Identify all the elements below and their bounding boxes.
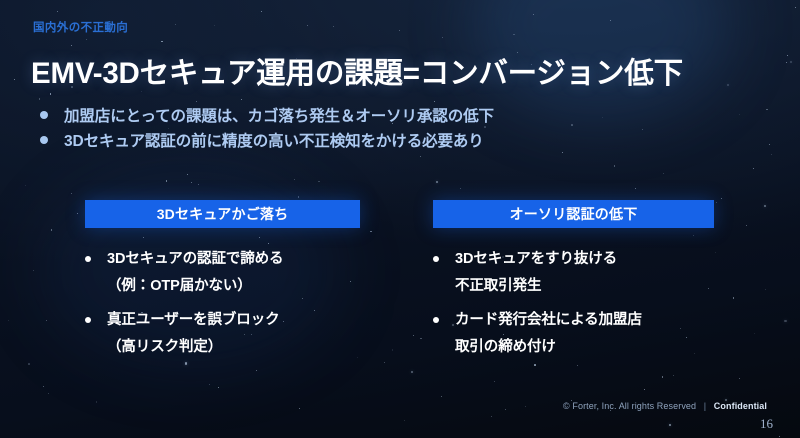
star-dot-icon bbox=[491, 416, 492, 417]
star-dot-icon bbox=[71, 45, 72, 46]
star-dot-icon bbox=[769, 144, 770, 145]
star-dot-icon bbox=[669, 424, 671, 426]
slide-canvas: 国内外の不正動向 EMV-3Dセキュア運用の課題=コンバージョン低下 加盟店にと… bbox=[0, 0, 800, 438]
star-dot-icon bbox=[214, 25, 215, 26]
star-dot-icon bbox=[46, 320, 47, 321]
star-dot-icon bbox=[404, 420, 405, 421]
star-dot-icon bbox=[187, 174, 188, 175]
star-dot-icon bbox=[77, 213, 79, 215]
star-dot-icon bbox=[771, 154, 772, 155]
star-dot-icon bbox=[614, 165, 616, 167]
star-dot-icon bbox=[241, 99, 242, 100]
column-item-list: 3Dセキュアの認証で諦める （例：OTP届かない） 真正ユーザーを誤ブロック （… bbox=[85, 249, 360, 357]
list-item: カード発行会社による加盟店 取引の締め付け bbox=[433, 310, 714, 357]
star-dot-icon bbox=[8, 320, 9, 321]
footer-separator: | bbox=[704, 401, 706, 411]
star-dot-icon bbox=[399, 30, 400, 31]
star-dot-icon bbox=[196, 101, 197, 102]
star-dot-icon bbox=[318, 181, 320, 183]
list-item-text: 3Dセキュアの認証で諦める bbox=[107, 249, 283, 269]
star-dot-icon bbox=[787, 55, 788, 56]
star-dot-icon bbox=[191, 182, 192, 183]
star-dot-icon bbox=[420, 338, 422, 340]
star-dot-icon bbox=[436, 181, 438, 183]
bullet-dot-icon bbox=[85, 317, 91, 323]
star-dot-icon bbox=[307, 25, 308, 26]
star-dot-icon bbox=[39, 98, 41, 100]
star-dot-icon bbox=[96, 401, 98, 403]
list-item-main-row: 3Dセキュアをすり抜ける bbox=[433, 249, 714, 269]
star-dot-icon bbox=[218, 387, 219, 388]
star-dot-icon bbox=[754, 333, 755, 334]
list-item-main-row: 3Dセキュアの認証で諦める bbox=[85, 249, 360, 269]
star-dot-icon bbox=[50, 93, 52, 95]
footer-copyright: © Forter, Inc. All rights Reserved | Con… bbox=[563, 401, 767, 411]
star-dot-icon bbox=[434, 101, 435, 102]
column-header-label: オーソリ認証の低下 bbox=[510, 204, 638, 224]
star-dot-icon bbox=[413, 335, 414, 336]
list-item-text: 3Dセキュアをすり抜ける bbox=[455, 249, 617, 269]
star-dot-icon bbox=[33, 270, 34, 271]
star-dot-icon bbox=[460, 188, 461, 189]
bullet-dot-icon bbox=[40, 136, 48, 144]
star-dot-icon bbox=[370, 231, 372, 233]
star-dot-icon bbox=[727, 84, 729, 86]
list-item-text: カード発行会社による加盟店 bbox=[455, 310, 642, 330]
star-dot-icon bbox=[299, 408, 300, 409]
star-dot-icon bbox=[209, 384, 210, 385]
star-dot-icon bbox=[795, 7, 796, 8]
slide-eyebrow-label: 国内外の不正動向 bbox=[33, 19, 128, 35]
star-dot-icon bbox=[635, 188, 636, 189]
slide-title: EMV-3Dセキュア運用の課題=コンバージョン低下 bbox=[31, 50, 683, 92]
star-dot-icon bbox=[57, 11, 58, 12]
star-dot-icon bbox=[721, 198, 722, 199]
star-dot-icon bbox=[161, 41, 163, 43]
star-dot-icon bbox=[733, 297, 735, 299]
star-dot-icon bbox=[43, 386, 44, 387]
star-dot-icon bbox=[533, 14, 534, 15]
footer-confidential-label: Confidential bbox=[714, 401, 767, 411]
star-dot-icon bbox=[14, 79, 15, 80]
list-item: 3Dセキュアの認証で諦める （例：OTP届かない） bbox=[85, 249, 360, 296]
star-dot-icon bbox=[28, 363, 30, 365]
bullet-dot-icon bbox=[433, 256, 439, 262]
star-dot-icon bbox=[610, 20, 611, 21]
star-dot-icon bbox=[716, 202, 717, 203]
bullet-dot-icon bbox=[85, 256, 91, 262]
lead-bullet-list: 加盟店にとっての課題は、カゴ落ち発生＆オーソリ承認の低下 3Dセキュア認証の前に… bbox=[40, 104, 740, 154]
star-dot-icon bbox=[505, 409, 506, 410]
star-dot-icon bbox=[739, 378, 740, 379]
lead-bullet-item: 加盟店にとっての課題は、カゴ落ち発生＆オーソリ承認の低下 bbox=[40, 104, 740, 126]
star-dot-icon bbox=[746, 225, 747, 226]
bullet-dot-icon bbox=[40, 111, 48, 119]
star-dot-icon bbox=[392, 349, 394, 351]
star-dot-icon bbox=[51, 229, 53, 231]
star-dot-icon bbox=[786, 62, 787, 63]
star-dot-icon bbox=[784, 320, 786, 322]
star-dot-icon bbox=[753, 168, 754, 169]
star-dot-icon bbox=[298, 196, 300, 198]
column-cart-abandonment: 3Dセキュアかご落ち 3Dセキュアの認証で諦める （例：OTP届かない） 真正ユ… bbox=[85, 200, 360, 371]
star-dot-icon bbox=[525, 406, 526, 407]
star-dot-icon bbox=[71, 193, 72, 194]
star-dot-icon bbox=[25, 185, 26, 186]
star-dot-icon bbox=[333, 26, 334, 27]
list-item: 真正ユーザーを誤ブロック （高リスク判定） bbox=[85, 310, 360, 357]
star-dot-icon bbox=[411, 371, 413, 373]
star-dot-icon bbox=[766, 109, 768, 111]
star-dot-icon bbox=[779, 436, 780, 437]
column-authorization-decline: オーソリ認証の低下 3Dセキュアをすり抜ける 不正取引発生 カード発行会社による… bbox=[433, 200, 714, 371]
list-item-text: 真正ユーザーを誤ブロック bbox=[107, 310, 280, 330]
column-header-label: 3Dセキュアかご落ち bbox=[157, 204, 289, 224]
star-dot-icon bbox=[442, 37, 443, 38]
column-item-list: 3Dセキュアをすり抜ける 不正取引発生 カード発行会社による加盟店 取引の締め付… bbox=[433, 249, 714, 357]
star-dot-icon bbox=[715, 252, 716, 253]
list-item-main-row: 真正ユーザーを誤ブロック bbox=[85, 310, 360, 330]
lead-bullet-text: 加盟店にとっての課題は、カゴ落ち発生＆オーソリ承認の低下 bbox=[64, 104, 494, 126]
star-dot-icon bbox=[494, 381, 495, 382]
star-dot-icon bbox=[673, 375, 674, 376]
column-header-box: 3Dセキュアかご落ち bbox=[85, 200, 360, 228]
list-item-subtext: （高リスク判定） bbox=[107, 337, 360, 357]
star-dot-icon bbox=[48, 393, 49, 394]
star-dot-icon bbox=[790, 61, 792, 63]
page-number: 16 bbox=[760, 416, 773, 432]
star-dot-icon bbox=[175, 24, 176, 25]
list-item-subtext: 取引の締め付け bbox=[455, 337, 714, 357]
lead-bullet-item: 3Dセキュア認証の前に精度の高い不正検知をかける必要あり bbox=[40, 129, 740, 151]
star-dot-icon bbox=[663, 173, 664, 174]
list-item-subtext: （例：OTP届かない） bbox=[107, 276, 360, 296]
star-dot-icon bbox=[261, 11, 262, 12]
column-header-box: オーソリ認証の低下 bbox=[433, 200, 714, 228]
star-dot-icon bbox=[441, 396, 442, 397]
star-dot-icon bbox=[662, 376, 664, 378]
list-item-main-row: カード発行会社による加盟店 bbox=[433, 310, 714, 330]
star-dot-icon bbox=[86, 39, 87, 40]
star-dot-icon bbox=[513, 34, 515, 36]
star-dot-icon bbox=[166, 180, 168, 182]
list-item: 3Dセキュアをすり抜ける 不正取引発生 bbox=[433, 249, 714, 296]
bullet-dot-icon bbox=[433, 317, 439, 323]
star-dot-icon bbox=[644, 389, 645, 390]
footer-copyright-text: © Forter, Inc. All rights Reserved bbox=[563, 401, 696, 411]
star-dot-icon bbox=[765, 289, 766, 290]
star-dot-icon bbox=[294, 179, 295, 180]
star-dot-icon bbox=[764, 205, 766, 207]
star-dot-icon bbox=[420, 156, 421, 157]
star-dot-icon bbox=[384, 362, 385, 363]
list-item-subtext: 不正取引発生 bbox=[455, 276, 714, 296]
lead-bullet-text: 3Dセキュア認証の前に精度の高い不正検知をかける必要あり bbox=[64, 129, 484, 151]
star-dot-icon bbox=[198, 184, 199, 185]
